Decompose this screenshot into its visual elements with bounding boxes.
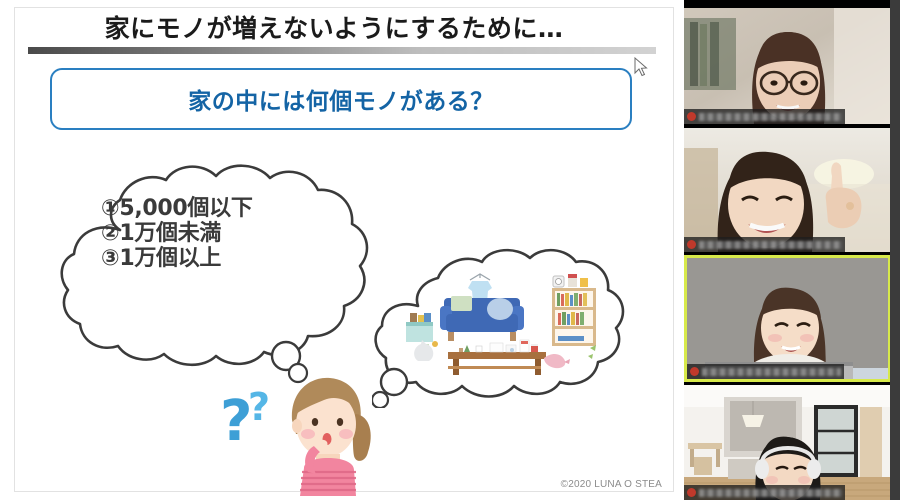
slide-title: 家にモノが増えないようにするために… (14, 9, 654, 45)
bookshelf-icon (552, 274, 596, 346)
answer-options-list: ①5,000個以下 ②1万個未満 ③1万個以上 (101, 196, 351, 271)
participant-tile-4[interactable] (684, 385, 891, 500)
participant-tile-1[interactable] (684, 8, 891, 124)
mouse-cursor-icon (634, 57, 648, 77)
screen-share-view: 家にモノが増えないようにするために… 家の中には何個モノがある？ ①5,000個… (0, 0, 900, 500)
participant-tile-3[interactable] (684, 255, 891, 382)
participant-name-2 (699, 241, 842, 249)
room-thought-bubble (372, 248, 642, 408)
answer-thought-bubble: ①5,000個以下 ②1万個未満 ③1万個以上 (58, 160, 388, 390)
participant-name-1 (699, 113, 842, 121)
title-divider-bar (28, 47, 656, 54)
cluttered-room-illustration (402, 266, 617, 376)
participant-tile-2[interactable] (684, 128, 891, 252)
mute-icon (690, 367, 699, 376)
participant-name-bar-2 (684, 237, 845, 252)
trash-bag-icon (414, 340, 433, 361)
question-box: 家の中には何個モノがある？ (50, 68, 632, 130)
question-text: 家の中には何個モノがある？ (188, 82, 494, 116)
participant-video-3 (687, 258, 888, 379)
participant-name-4 (699, 489, 842, 497)
copyright-text: ©2020 LUNA O STEA (561, 479, 662, 490)
svg-text:?: ? (248, 385, 270, 429)
answer-option-2: ②1万個未満 (101, 221, 351, 246)
participant-name-3 (702, 368, 841, 376)
participant-video-strip (684, 0, 900, 500)
strip-right-edge (890, 0, 900, 500)
thought-bubble-shape (58, 160, 388, 390)
answer-option-1: ①5,000個以下 (101, 196, 351, 221)
sofa-icon (440, 296, 524, 341)
mute-icon (687, 240, 696, 249)
participant-name-bar-1 (684, 109, 845, 124)
participant-name-bar-4 (684, 485, 845, 500)
mute-icon (687, 112, 696, 121)
participant-video-2 (684, 128, 891, 252)
mute-icon (687, 488, 696, 497)
participant-video-4 (684, 385, 891, 500)
coffee-table-icon (448, 340, 546, 375)
shared-slide: 家にモノが増えないようにするために… 家の中には何個モノがある？ ①5,000個… (0, 0, 684, 500)
thinking-girl-illustration (270, 372, 380, 496)
participant-video-1 (684, 8, 891, 124)
answer-option-3: ③1万個以上 (101, 246, 351, 271)
participant-name-bar-3 (687, 364, 844, 379)
